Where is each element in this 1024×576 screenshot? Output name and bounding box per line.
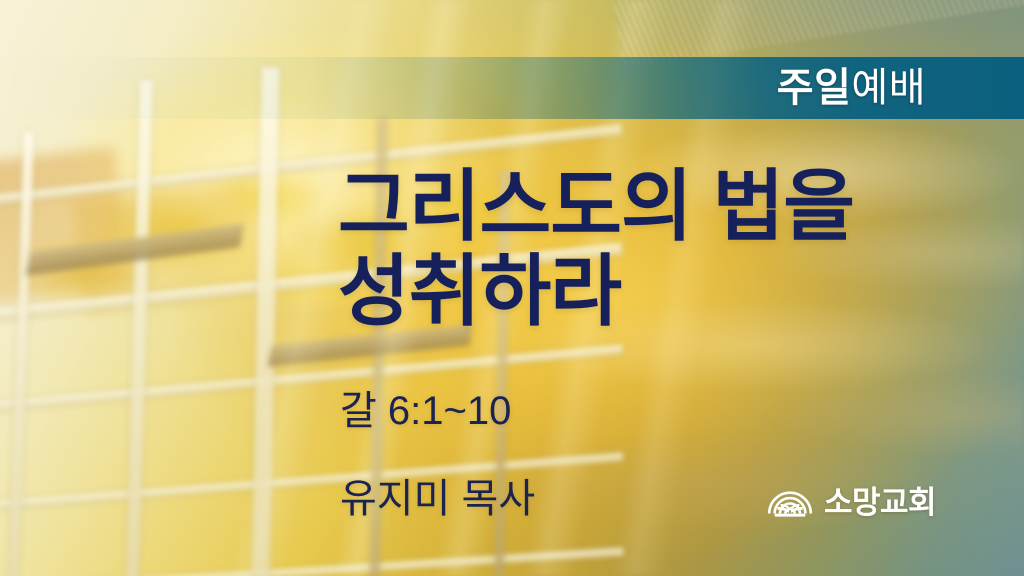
scripture-reference: 갈 6:1~10 [340, 391, 511, 431]
church-logo: 소망교회 [766, 482, 936, 522]
rainbow-arc-open-book-icon [766, 482, 814, 522]
speaker-name: 유지미 목사 [340, 479, 535, 519]
service-badge-label-light: 예배 [851, 68, 926, 108]
service-badge-label: 주일예배 [777, 57, 926, 119]
sermon-title-card: 주일예배 그리스도의 법을 성취하라 갈 6:1~10 유지미 목사 소망교회 [0, 0, 1024, 576]
sermon-title: 그리스도의 법을 성취하라 [338, 164, 978, 334]
sermon-title-line-1: 그리스도의 법을 [338, 164, 978, 249]
church-logo-wordmark: 소망교회 [824, 487, 936, 518]
sermon-title-line-2: 성취하라 [338, 249, 978, 334]
service-badge-label-strong: 주일 [777, 68, 852, 108]
